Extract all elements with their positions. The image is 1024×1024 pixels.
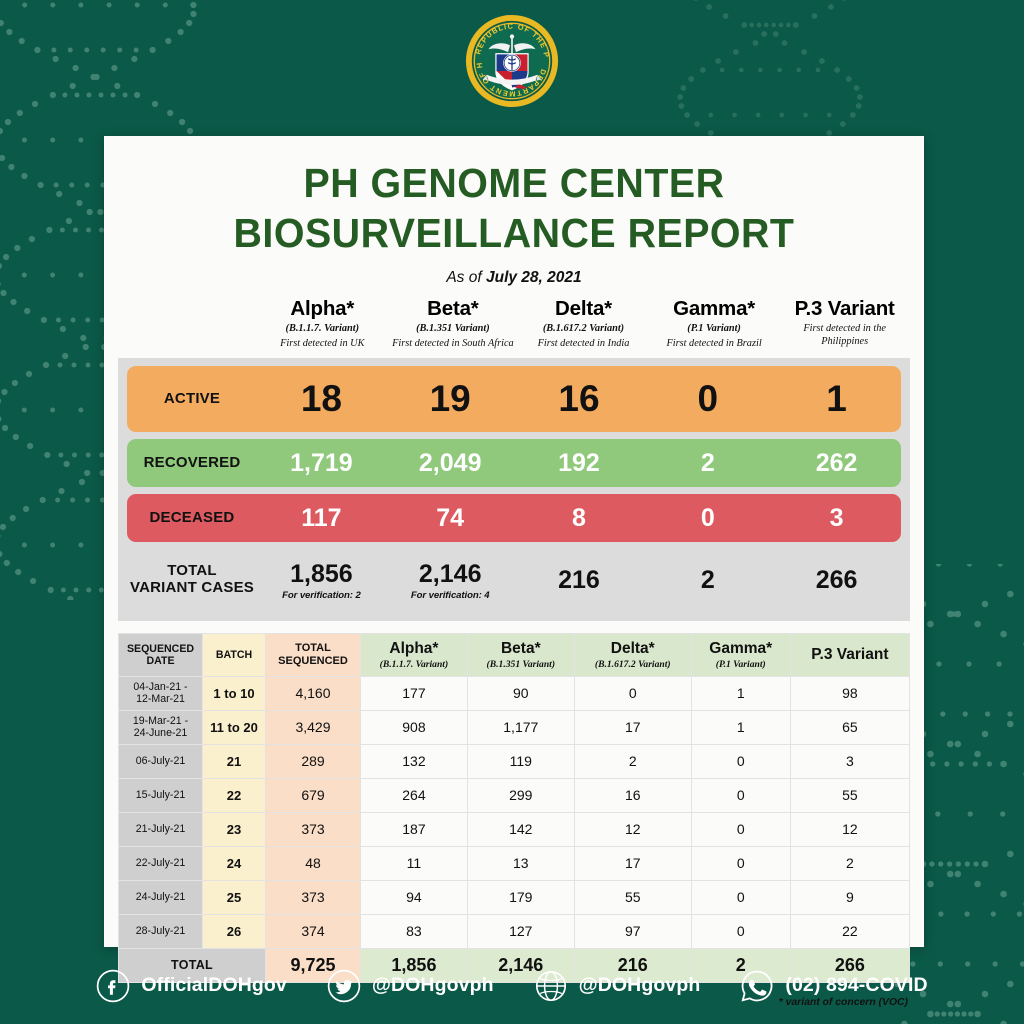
col-header-total-sequenced: TOTAL SEQUENCED: [266, 634, 361, 677]
cell-alpha: 264: [361, 778, 468, 812]
cell-total-sequenced: 48: [266, 846, 361, 880]
cell-sequenced-date: 15-July-21: [119, 778, 203, 812]
cell-delta: 16: [574, 778, 691, 812]
cell-delta: 55: [574, 880, 691, 914]
globe-icon[interactable]: [534, 969, 568, 1003]
cell-batch: 25: [203, 880, 266, 914]
stat-total-alpha-value: 1,856: [290, 560, 353, 589]
cell-batch: 21: [203, 744, 266, 778]
sequencing-table-container: SEQUENCED DATE BATCH TOTAL SEQUENCED Alp…: [118, 633, 910, 983]
cell-p3: 65: [790, 710, 909, 744]
sequencing-table-body: 04-Jan-21 -12-Mar-211 to 104,16017790019…: [119, 676, 910, 982]
variant-lineage: (B.1.351 Variant): [390, 323, 517, 336]
cell-delta: 2: [574, 744, 691, 778]
stat-total-p3: 266: [772, 549, 901, 611]
cell-total-sequenced: 4,160: [266, 676, 361, 710]
variant-origin: First detected in India: [520, 338, 647, 351]
cell-beta: 90: [467, 676, 574, 710]
cell-alpha: 187: [361, 812, 468, 846]
variant-name: P.3 Variant: [781, 297, 908, 321]
total-label-line-2: VARIANT CASES: [130, 580, 254, 597]
cell-total-sequenced: 374: [266, 914, 361, 948]
cell-beta: 119: [467, 744, 574, 778]
facebook-icon[interactable]: [96, 969, 130, 1003]
whatsapp-icon[interactable]: [740, 969, 774, 1003]
variant-header-beta: Beta* (B.1.351 Variant) First detected i…: [388, 297, 519, 350]
social-whatsapp-number: (02) 894-COVID: [785, 974, 927, 997]
table-row: 19-Mar-21 -24-June-2111 to 203,4299081,1…: [119, 710, 910, 744]
cell-p3: 22: [790, 914, 909, 948]
stats-row-recovered: RECOVERED 1,719 2,049 192 2 262: [127, 439, 901, 487]
cell-beta: 13: [467, 846, 574, 880]
table-header-row: SEQUENCED DATE BATCH TOTAL SEQUENCED Alp…: [119, 634, 910, 677]
variant-origin: First detected in the Philippines: [781, 323, 908, 348]
sequencing-table: SEQUENCED DATE BATCH TOTAL SEQUENCED Alp…: [118, 633, 910, 983]
variant-name: Beta*: [390, 297, 517, 321]
cell-alpha: 83: [361, 914, 468, 948]
stat-total-beta-value: 2,146: [419, 560, 482, 589]
cell-sequenced-date: 19-Mar-21 -24-June-21: [119, 710, 203, 744]
cell-p3: 12: [790, 812, 909, 846]
cell-beta: 299: [467, 778, 574, 812]
stats-row-active: ACTIVE 18 19 16 0 1: [127, 366, 901, 432]
table-row: 22-July-21244811131702: [119, 846, 910, 880]
as-of-date: As of July 28, 2021: [104, 269, 924, 287]
col-header-beta: Beta* (B.1.351 Variant): [467, 634, 574, 677]
table-row: 28-July-21263748312797022: [119, 914, 910, 948]
cell-gamma: 1: [691, 710, 790, 744]
cell-sequenced-date: 21-July-21: [119, 812, 203, 846]
stat-deceased-delta: 8: [515, 494, 644, 542]
cell-p3: 2: [790, 846, 909, 880]
as-of-value: July 28, 2021: [486, 269, 582, 286]
table-row: 06-July-2121289132119203: [119, 744, 910, 778]
cell-batch: 23: [203, 812, 266, 846]
stat-deceased-p3: 3: [772, 494, 901, 542]
cell-total-sequenced: 373: [266, 880, 361, 914]
cell-gamma: 0: [691, 744, 790, 778]
stats-row-label: ACTIVE: [127, 366, 257, 432]
cell-alpha: 132: [361, 744, 468, 778]
col-header-delta: Delta* (B.1.617.2 Variant): [574, 634, 691, 677]
stat-total-beta: 2,146 For verification: 4: [386, 549, 515, 611]
table-row: 21-July-212337318714212012: [119, 812, 910, 846]
cell-batch: 11 to 20: [203, 710, 266, 744]
stats-row-label: RECOVERED: [127, 439, 257, 487]
variant-header-p3: P.3 Variant First detected in the Philip…: [779, 297, 910, 348]
sequencing-table-head: SEQUENCED DATE BATCH TOTAL SEQUENCED Alp…: [119, 634, 910, 677]
col-header-alpha: Alpha* (B.1.1.7. Variant): [361, 634, 468, 677]
cell-alpha: 94: [361, 880, 468, 914]
stat-active-delta: 16: [515, 366, 644, 432]
cell-beta: 127: [467, 914, 574, 948]
cell-gamma: 0: [691, 880, 790, 914]
cell-delta: 97: [574, 914, 691, 948]
table-row: 24-July-2125373941795509: [119, 880, 910, 914]
cell-gamma: 1: [691, 676, 790, 710]
report-card: PH GENOME CENTER BIOSURVEILLANCE REPORT …: [104, 136, 924, 947]
stat-recovered-delta: 192: [515, 439, 644, 487]
cell-p3: 98: [790, 676, 909, 710]
cell-p3: 3: [790, 744, 909, 778]
stat-deceased-beta: 74: [386, 494, 515, 542]
cell-alpha: 11: [361, 846, 468, 880]
social-footer: OfficialDOHgov @DOHgovph @DOHgovph: [0, 947, 1024, 1024]
total-label-line-1: TOTAL: [130, 563, 254, 580]
stat-deceased-alpha: 117: [257, 494, 386, 542]
variant-lineage: (P.1 Variant): [651, 323, 778, 336]
variant-lineage: (B.1.1.7. Variant): [259, 323, 386, 336]
cell-sequenced-date: 06-July-21: [119, 744, 203, 778]
stat-recovered-p3: 262: [772, 439, 901, 487]
cell-beta: 179: [467, 880, 574, 914]
stat-active-p3: 1: [772, 366, 901, 432]
doh-seal-icon: REPUBLIC OF THE PHILIPPINES DEPARTMENT O…: [463, 12, 561, 110]
cell-beta: 1,177: [467, 710, 574, 744]
cell-batch: 22: [203, 778, 266, 812]
infographic-root: REPUBLIC OF THE PHILIPPINES DEPARTMENT O…: [0, 0, 1024, 1024]
twitter-icon[interactable]: [327, 969, 361, 1003]
variant-name: Alpha*: [259, 297, 386, 321]
title-line-1: PH GENOME CENTER: [303, 160, 724, 206]
stat-total-beta-verification: For verification: 4: [411, 590, 490, 601]
title-line-2: BIOSURVEILLANCE REPORT: [120, 208, 907, 258]
cell-sequenced-date: 22-July-21: [119, 846, 203, 880]
variant-header-gamma: Gamma* (P.1 Variant) First detected in B…: [649, 297, 780, 350]
social-facebook[interactable]: OfficialDOHgov: [96, 969, 287, 1003]
doh-seal-container: REPUBLIC OF THE PHILIPPINES DEPARTMENT O…: [0, 12, 1024, 110]
stat-recovered-gamma: 2: [643, 439, 772, 487]
cell-delta: 17: [574, 710, 691, 744]
as-of-prefix: As of: [446, 269, 486, 286]
stat-active-beta: 19: [386, 366, 515, 432]
cell-p3: 9: [790, 880, 909, 914]
col-header-p3: P.3 Variant: [790, 634, 909, 677]
variant-origin: First detected in South Africa: [390, 338, 517, 351]
cell-beta: 142: [467, 812, 574, 846]
variant-origin: First detected in Brazil: [651, 338, 778, 351]
cell-delta: 17: [574, 846, 691, 880]
cell-batch: 24: [203, 846, 266, 880]
cell-sequenced-date: 04-Jan-21 -12-Mar-21: [119, 676, 203, 710]
social-website[interactable]: @DOHgovph: [534, 969, 701, 1003]
cell-alpha: 177: [361, 676, 468, 710]
social-whatsapp[interactable]: (02) 894-COVID: [740, 969, 927, 1003]
social-twitter-handle: @DOHgovph: [372, 974, 494, 997]
cell-alpha: 908: [361, 710, 468, 744]
col-header-gamma: Gamma* (P.1 Variant): [691, 634, 790, 677]
table-row: 04-Jan-21 -12-Mar-211 to 104,16017790019…: [119, 676, 910, 710]
variant-headers: Alpha* (B.1.1.7. Variant) First detected…: [118, 297, 910, 350]
stat-total-alpha-verification: For verification: 2: [282, 590, 361, 601]
social-website-handle: @DOHgovph: [579, 974, 701, 997]
stat-deceased-gamma: 0: [643, 494, 772, 542]
stat-recovered-alpha: 1,719: [257, 439, 386, 487]
variant-origin: First detected in UK: [259, 338, 386, 351]
stat-total-alpha: 1,856 For verification: 2: [257, 549, 386, 611]
stat-active-alpha: 18: [257, 366, 386, 432]
cell-p3: 55: [790, 778, 909, 812]
cell-sequenced-date: 28-July-21: [119, 914, 203, 948]
variant-header-alpha: Alpha* (B.1.1.7. Variant) First detected…: [257, 297, 388, 350]
stats-row-label: TOTAL VARIANT CASES: [127, 549, 257, 611]
col-header-sequenced-date: SEQUENCED DATE: [119, 634, 203, 677]
cell-batch: 26: [203, 914, 266, 948]
social-facebook-handle: OfficialDOHgov: [141, 974, 287, 997]
page-title: PH GENOME CENTER BIOSURVEILLANCE REPORT: [120, 158, 907, 258]
stat-active-gamma: 0: [643, 366, 772, 432]
cell-batch: 1 to 10: [203, 676, 266, 710]
cell-total-sequenced: 289: [266, 744, 361, 778]
cell-gamma: 0: [691, 778, 790, 812]
variant-lineage: (B.1.617.2 Variant): [520, 323, 647, 336]
cell-delta: 0: [574, 676, 691, 710]
stats-row-total-variant-cases: TOTAL VARIANT CASES 1,856 For verificati…: [127, 549, 901, 611]
stat-recovered-beta: 2,049: [386, 439, 515, 487]
variant-name: Delta*: [520, 297, 647, 321]
cell-total-sequenced: 679: [266, 778, 361, 812]
cell-sequenced-date: 24-July-21: [119, 880, 203, 914]
table-row: 15-July-212267926429916055: [119, 778, 910, 812]
cell-gamma: 0: [691, 914, 790, 948]
col-header-batch: BATCH: [203, 634, 266, 677]
cell-gamma: 0: [691, 846, 790, 880]
cell-total-sequenced: 3,429: [266, 710, 361, 744]
cell-total-sequenced: 373: [266, 812, 361, 846]
summary-stats-panel: ACTIVE 18 19 16 0 1 RECOVERED 1,719 2,04…: [118, 358, 910, 621]
social-twitter[interactable]: @DOHgovph: [327, 969, 494, 1003]
cell-gamma: 0: [691, 812, 790, 846]
cell-delta: 12: [574, 812, 691, 846]
stats-row-deceased: DECEASED 117 74 8 0 3: [127, 494, 901, 542]
variant-name: Gamma*: [651, 297, 778, 321]
stat-total-gamma: 2: [643, 549, 772, 611]
stats-row-label: DECEASED: [127, 494, 257, 542]
stat-total-delta: 216: [515, 549, 644, 611]
variant-header-delta: Delta* (B.1.617.2 Variant) First detecte…: [518, 297, 649, 350]
